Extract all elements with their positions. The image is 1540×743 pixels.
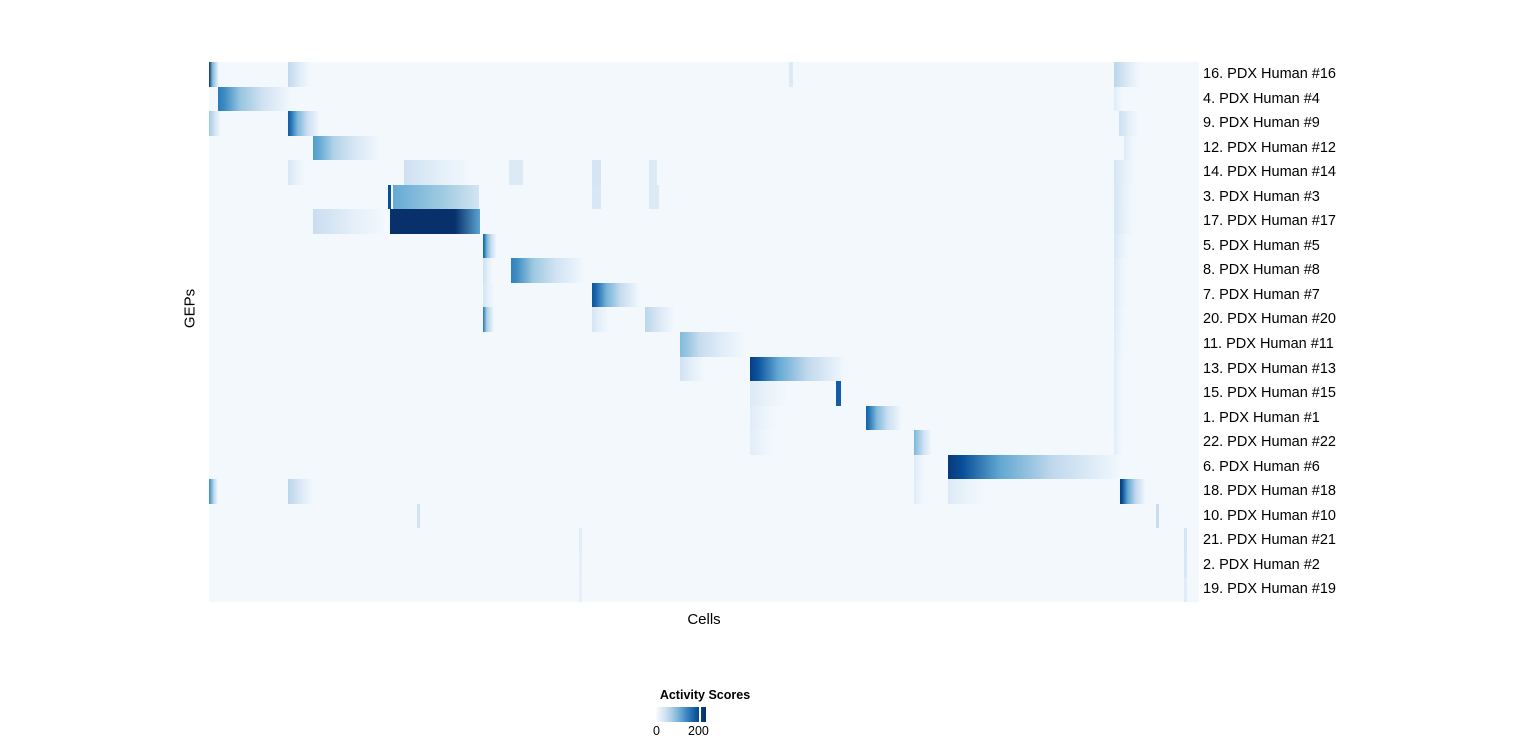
heatmap-block [209,62,219,87]
row-label: 13. PDX Human #13 [1203,357,1336,382]
heatmap-block [750,381,790,406]
x-axis-label: Cells [209,611,1199,628]
heatmap-row [209,357,1199,382]
heatmap-block [1114,381,1124,406]
heatmap-block [579,528,582,553]
heatmap-block [511,258,585,283]
heatmap-block [218,87,292,112]
heatmap-row [209,479,1199,504]
row-label: 18. PDX Human #18 [1203,479,1336,504]
heatmap-block [288,111,320,136]
heatmap-block [388,185,391,210]
heatmap-block [750,430,776,455]
heatmap-block [1114,160,1136,185]
colorbar-tick-label-max: 200 [688,724,709,738]
heatmap-block [592,185,601,210]
heatmap-row [209,136,1199,161]
heatmap-block [649,160,657,185]
heatmap-block [509,160,523,185]
heatmap-block [288,62,310,87]
row-label: 19. PDX Human #19 [1203,577,1336,602]
row-label: 9. PDX Human #9 [1203,111,1320,136]
row-label: 20. PDX Human #20 [1203,307,1336,332]
heatmap-block [1114,283,1128,308]
heatmap-block [1114,62,1140,87]
heatmap-row [209,504,1199,529]
heatmap-block [1114,87,1124,112]
heatmap-row [209,307,1199,332]
row-label: 1. PDX Human #1 [1203,406,1320,431]
heatmap-row [209,160,1199,185]
heatmap-block [483,307,494,332]
heatmap-block [750,406,780,431]
heatmap-block [645,307,675,332]
heatmap-block [209,479,218,504]
row-label: 15. PDX Human #15 [1203,381,1336,406]
heatmap-block [390,209,480,234]
legend: Activity Scores 0 200 [600,688,810,743]
heatmap-row [209,553,1199,578]
heatmap-figure: GEPs Cells 16. PDX Human #164. PDX Human… [0,0,1540,743]
row-label: 12. PDX Human #12 [1203,136,1336,161]
row-label: 8. PDX Human #8 [1203,258,1320,283]
heatmap-block [789,62,793,87]
heatmap-row [209,332,1199,357]
heatmap-block [483,234,497,259]
heatmap-block [1114,209,1134,234]
row-label: 22. PDX Human #22 [1203,430,1336,455]
heatmap-block [750,357,846,382]
row-label: 16. PDX Human #16 [1203,62,1336,87]
heatmap-block [1114,258,1128,283]
colorbar-tick-label-min: 0 [653,724,660,738]
heatmap-row [209,430,1199,455]
heatmap-block [592,160,601,185]
heatmap-block [579,577,582,602]
heatmap-plot-area [209,62,1199,602]
row-label: 21. PDX Human #21 [1203,528,1336,553]
heatmap-row [209,381,1199,406]
row-label: 2. PDX Human #2 [1203,553,1320,578]
colorbar-tick-mark [699,707,701,722]
heatmap-row [209,111,1199,136]
row-label: 3. PDX Human #3 [1203,185,1320,210]
heatmap-block [579,553,582,578]
heatmap-block [1114,430,1124,455]
heatmap-row [209,209,1199,234]
heatmap-block [1124,136,1136,161]
heatmap-block [313,136,381,161]
heatmap-block [592,283,640,308]
heatmap-block [914,430,932,455]
row-label: 17. PDX Human #17 [1203,209,1336,234]
row-label: 10. PDX Human #10 [1203,504,1336,529]
heatmap-block [1156,504,1159,529]
heatmap-block [1114,406,1124,431]
heatmap-block [680,357,706,382]
row-label: 6. PDX Human #6 [1203,455,1320,480]
heatmap-block [1114,307,1126,332]
heatmap-block [313,209,387,234]
heatmap-block [914,455,926,480]
heatmap-row [209,185,1199,210]
heatmap-block [948,479,988,504]
heatmap-block [288,160,306,185]
heatmap-block [914,479,926,504]
row-label: 4. PDX Human #4 [1203,87,1320,112]
heatmap-block [1184,553,1187,578]
heatmap-block [649,185,659,210]
heatmap-block [393,185,479,210]
heatmap-block [483,283,495,308]
heatmap-row [209,87,1199,112]
heatmap-row [209,234,1199,259]
row-label: 5. PDX Human #5 [1203,234,1320,259]
heatmap-block [1120,479,1146,504]
heatmap-block [948,455,1122,480]
heatmap-block [1114,234,1130,259]
heatmap-row [209,258,1199,283]
heatmap-block [1184,528,1187,553]
heatmap-block [483,258,493,283]
heatmap-row [209,528,1199,553]
heatmap-row [209,577,1199,602]
row-label: 14. PDX Human #14 [1203,160,1336,185]
heatmap-block [1114,357,1124,382]
heatmap-row [209,62,1199,87]
heatmap-block [592,307,610,332]
heatmap-block [209,111,221,136]
heatmap-block [1114,185,1134,210]
heatmap-block [1184,577,1187,602]
y-axis-label: GEPs [182,279,199,339]
row-label-list: 16. PDX Human #164. PDX Human #49. PDX H… [1203,62,1533,602]
heatmap-row [209,283,1199,308]
heatmap-block [417,504,420,529]
heatmap-block [836,381,841,406]
legend-title: Activity Scores [600,688,810,702]
heatmap-block [288,479,314,504]
row-label: 11. PDX Human #11 [1203,332,1334,357]
heatmap-block [680,332,746,357]
heatmap-block [866,406,902,431]
heatmap-row [209,406,1199,431]
heatmap-row [209,455,1199,480]
heatmap-block [404,160,474,185]
heatmap-block [1119,111,1139,136]
row-label: 7. PDX Human #7 [1203,283,1320,308]
heatmap-block [1114,332,1126,357]
